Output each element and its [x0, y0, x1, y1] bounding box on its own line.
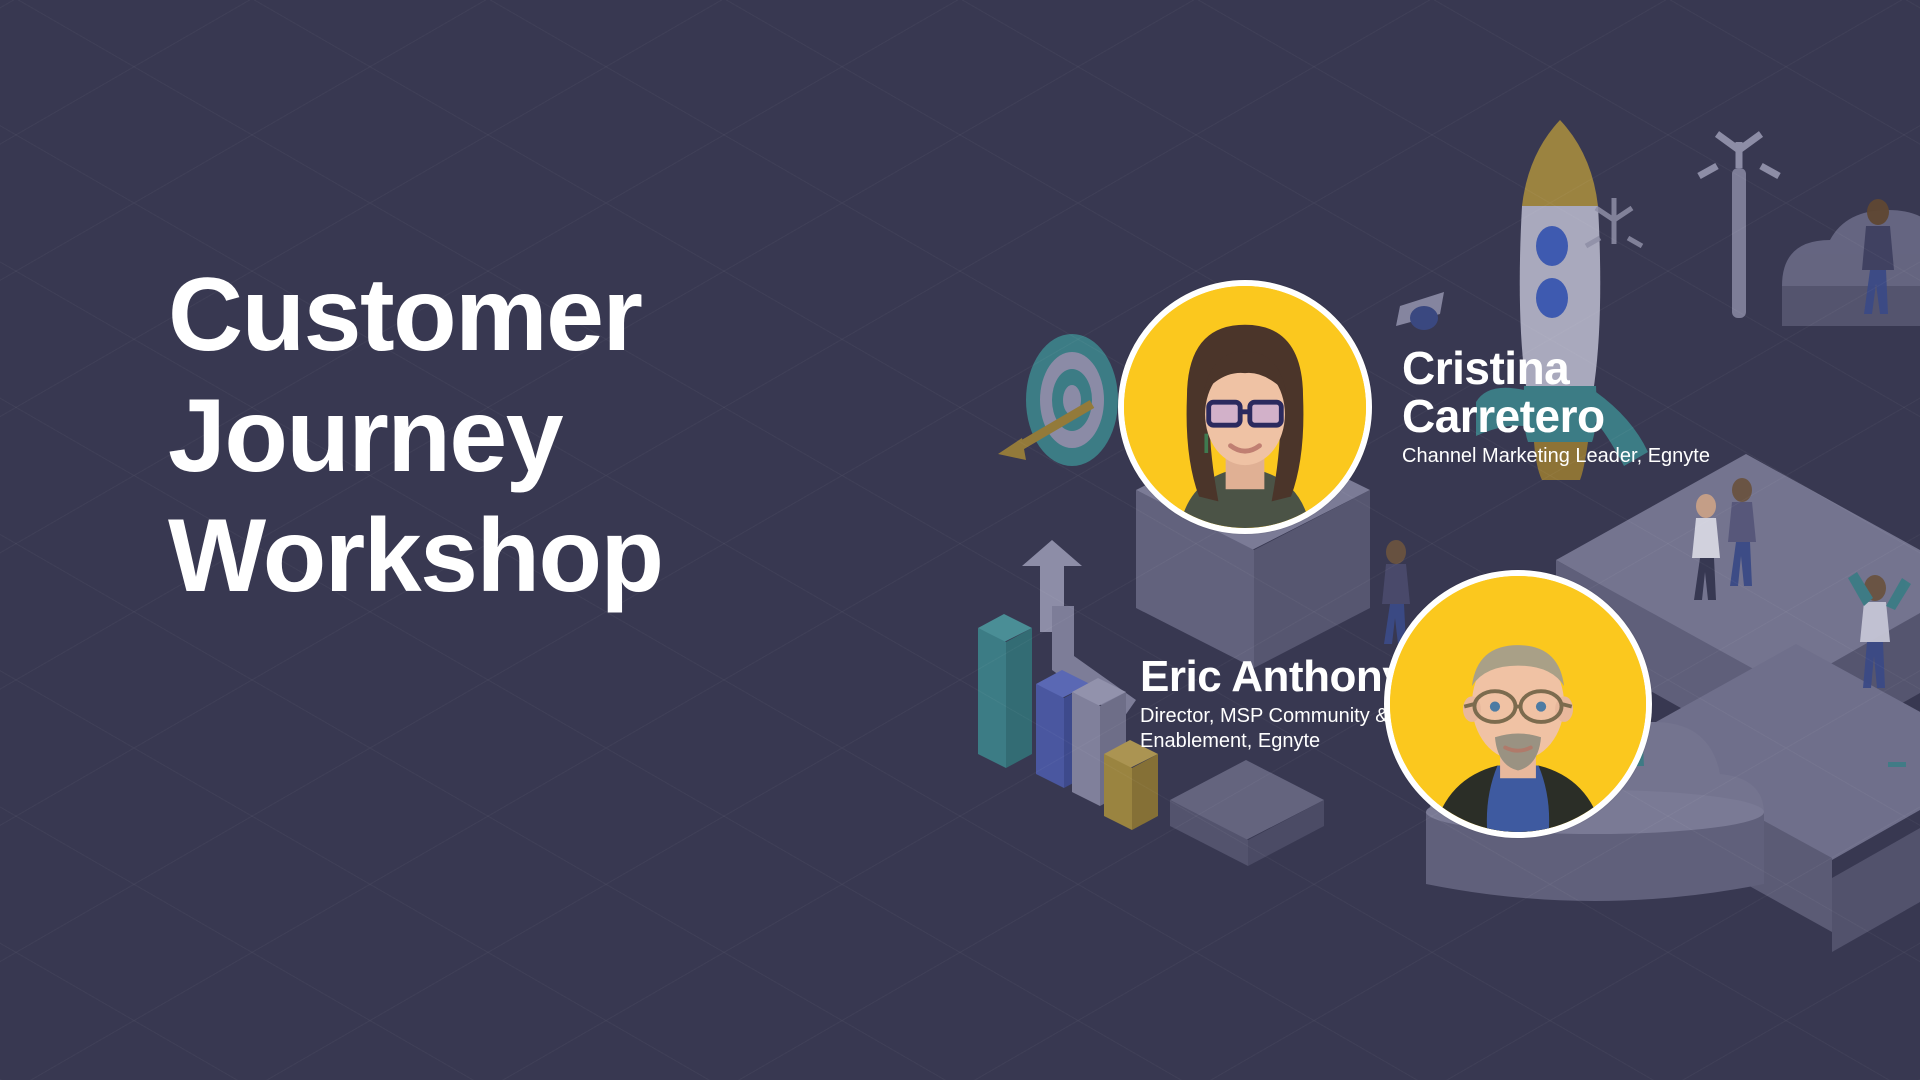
platform-top-right: [1782, 210, 1920, 326]
speaker-info-cristina: Cristina Carretero Channel Marketing Lea…: [1402, 345, 1710, 470]
headline-line-1: Customer: [168, 255, 888, 376]
speaker-card-cristina: Cristina Carretero Channel Marketing Lea…: [1118, 280, 1710, 534]
headline-line-3: Workshop: [168, 496, 888, 617]
speaker-name: Cristina Carretero: [1402, 345, 1710, 441]
speaker-role: Channel Marketing Leader, Egnyte: [1402, 444, 1710, 469]
slide-canvas: Customer Journey Workshop: [0, 0, 1920, 1080]
target-with-arrow: [998, 334, 1118, 466]
avatar-cristina: [1118, 280, 1372, 534]
page-title: Customer Journey Workshop: [168, 255, 888, 617]
speaker-card-eric: Eric Anthony Director, MSP Community & E…: [1140, 570, 1652, 838]
cristina-carretero-photo: [1124, 286, 1366, 528]
eric-anthony-photo: [1390, 576, 1646, 832]
lamppost-icon: [1699, 134, 1779, 318]
avatar-eric: [1384, 570, 1652, 838]
speaker-info-eric: Eric Anthony Director, MSP Community & E…: [1140, 654, 1406, 754]
speaker-name: Eric Anthony: [1140, 654, 1406, 700]
speaker-role: Director, MSP Community & Enablement, Eg…: [1140, 704, 1406, 754]
headline-line-2: Journey: [168, 376, 888, 497]
